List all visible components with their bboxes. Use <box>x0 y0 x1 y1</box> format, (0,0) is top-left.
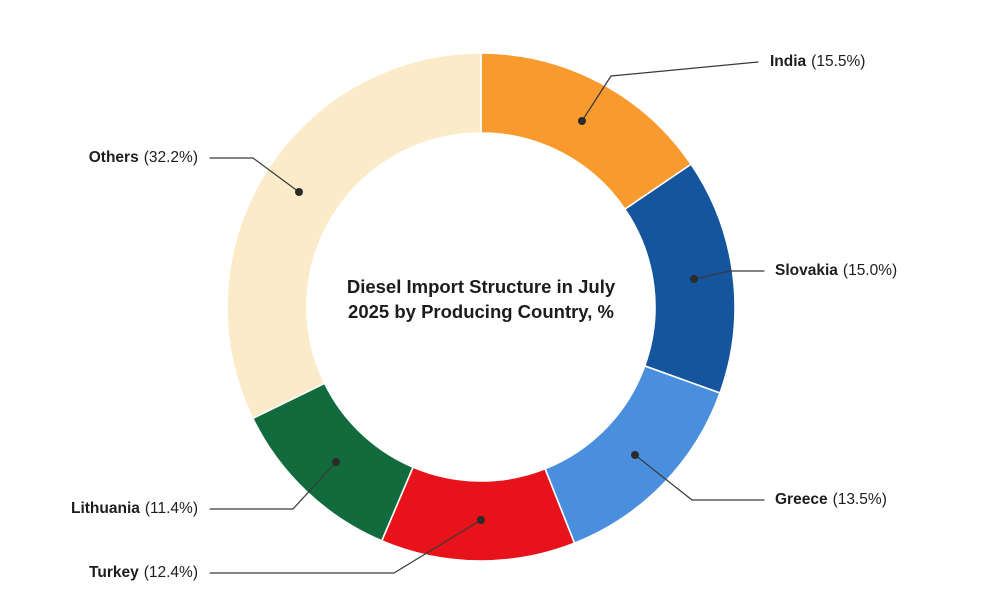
callout-name-lithuania: Lithuania <box>71 500 140 517</box>
callout-label-india: India(15.5%) <box>770 53 865 70</box>
callout-label-lithuania: Lithuania(11.4%) <box>71 500 198 517</box>
callout-value-greece: (13.5%) <box>833 491 887 508</box>
callout-value-lithuania: (11.4%) <box>145 500 198 517</box>
callout-name-turkey: Turkey <box>89 564 139 581</box>
callout-value-india: (15.5%) <box>811 53 865 70</box>
leader-dot-greece <box>631 451 639 459</box>
callout-label-slovakia: Slovakia(15.0%) <box>775 262 897 279</box>
center-title-line-2: 2025 by Producing Country, % <box>348 301 614 322</box>
callout-value-turkey: (12.4%) <box>144 564 198 581</box>
leader-dot-others <box>295 188 303 196</box>
leader-dot-slovakia <box>690 275 698 283</box>
chart-center-title: Diesel Import Structure in July2025 by P… <box>347 276 616 322</box>
callout-label-greece: Greece(13.5%) <box>775 491 887 508</box>
callout-value-others: (32.2%) <box>144 149 198 166</box>
center-title-text: Diesel Import Structure in July2025 by P… <box>347 276 616 322</box>
callout-name-slovakia: Slovakia <box>775 262 838 279</box>
callout-name-greece: Greece <box>775 491 828 508</box>
callout-value-slovakia: (15.0%) <box>843 262 897 279</box>
callout-label-turkey: Turkey(12.4%) <box>89 564 198 581</box>
donut-slice-others[interactable] <box>227 53 481 418</box>
callout-name-others: Others <box>89 149 139 166</box>
leader-dot-turkey <box>477 516 485 524</box>
callout-name-india: India <box>770 53 807 70</box>
center-title-line-1: Diesel Import Structure in July <box>347 276 616 297</box>
donut-slice-turkey[interactable] <box>382 467 575 561</box>
leader-dot-india <box>578 117 586 125</box>
leader-dot-lithuania <box>332 458 340 466</box>
donut-slice-slovakia[interactable] <box>625 164 735 393</box>
callout-label-others: Others(32.2%) <box>89 149 198 166</box>
donut-chart-svg: India(15.5%)Slovakia(15.0%)Greece(13.5%)… <box>0 0 991 612</box>
donut-chart-container: India(15.5%)Slovakia(15.0%)Greece(13.5%)… <box>0 0 991 612</box>
